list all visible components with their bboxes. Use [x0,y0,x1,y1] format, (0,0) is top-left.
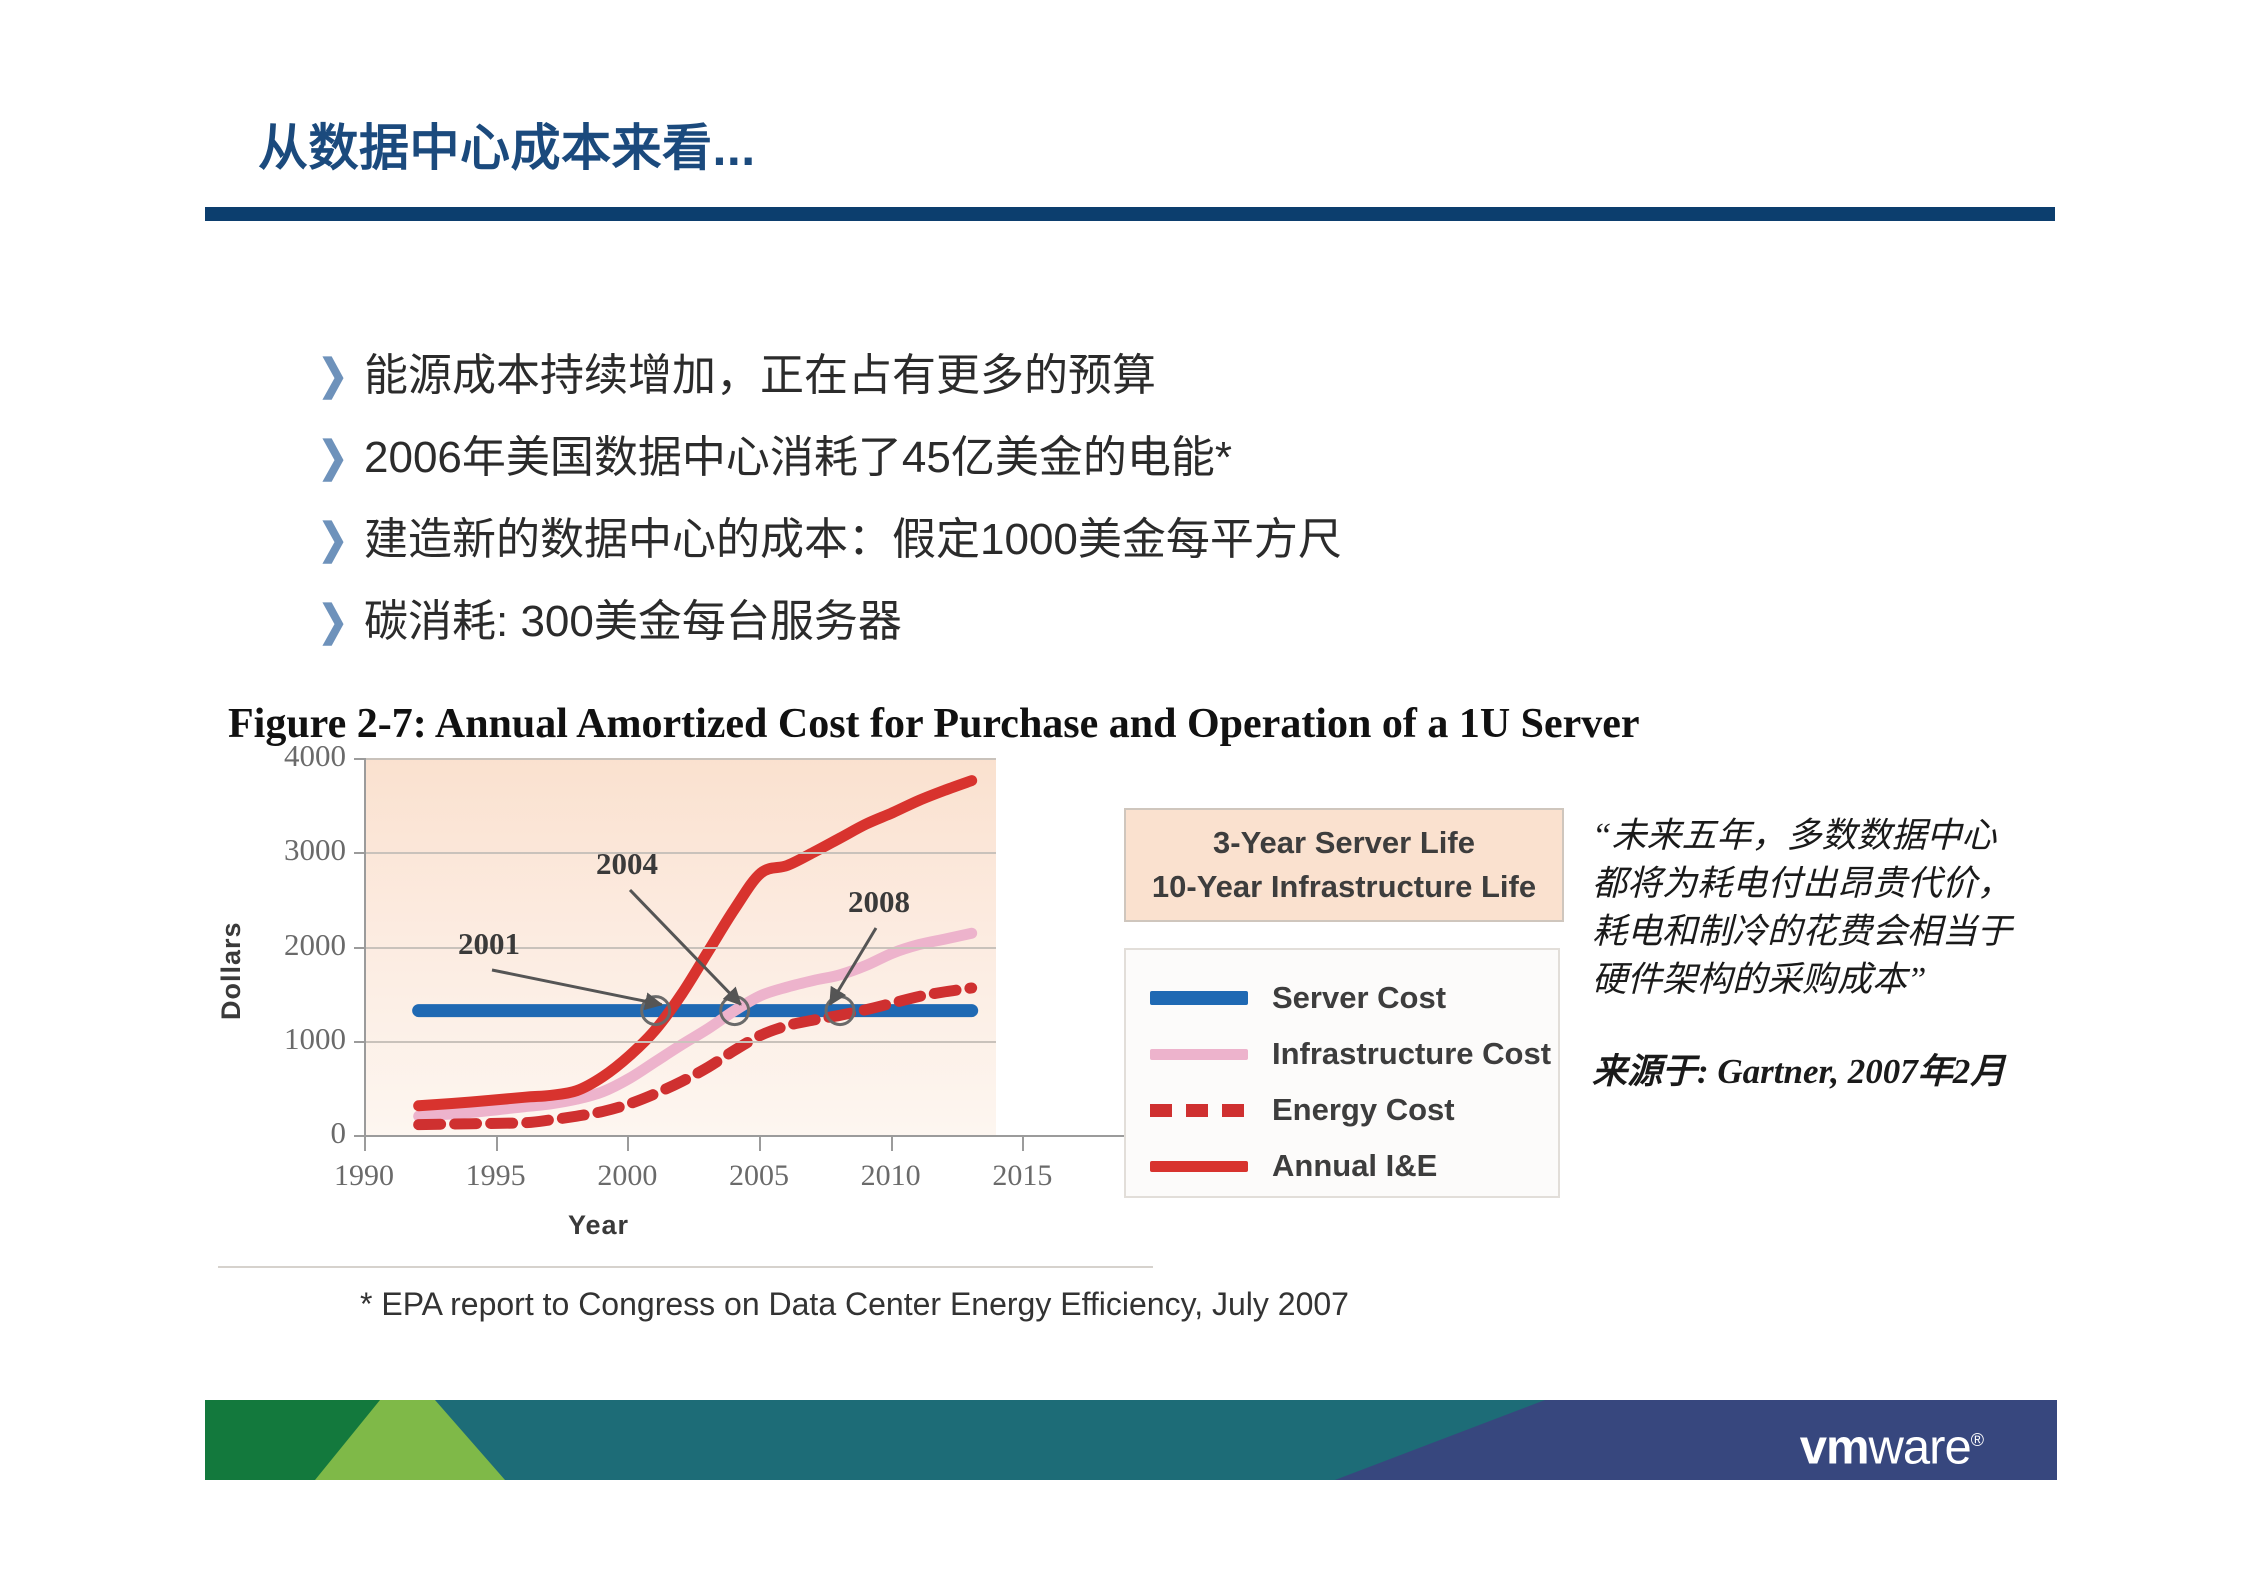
legend-label: Infrastructure Cost [1272,1036,1551,1072]
list-item-label: 2006年美国数据中心消耗了45亿美金的电能* [364,430,1232,486]
x-axis-label: Year [568,1210,629,1241]
slide-root: 从数据中心成本来看... ❯ 能源成本持续增加，正在占有更多的预算 ❯ 2006… [0,0,2252,1594]
y-axis-tick-mark [354,947,366,949]
legend-item: Server Cost [1126,970,1558,1026]
quote-block: “未来五年，多数数据中心都将为耗电付出昂贵代价，耗电和制冷的花费会相当于硬件架构… [1592,812,2012,1096]
figure-title: Figure 2-7: Annual Amortized Cost for Pu… [228,700,1640,748]
figure-divider [218,1266,1153,1268]
legend-header-line-1: 3-Year Server Life [1213,821,1475,865]
list-item: ❯ 能源成本持续增加，正在占有更多的预算 [318,348,1818,408]
list-item-label: 能源成本持续增加，正在占有更多的预算 [364,348,1156,404]
legend-swatch-icon [1150,1104,1248,1117]
x-axis-tick-label: 2000 [572,1159,682,1193]
x-axis-tick-mark [1022,1137,1024,1151]
y-axis-ticks: 01000200030004000 [228,758,346,1158]
gridline [366,758,996,760]
list-item: ❯ 2006年美国数据中心消耗了45亿美金的电能* [318,430,1818,490]
list-item: ❯ 建造新的数据中心的成本：假定1000美金每平方尺 [318,512,1818,572]
x-axis-tick-mark [364,1137,366,1151]
legend-header-box: 3-Year Server Life 10-Year Infrastructur… [1124,808,1564,922]
x-axis-tick-label: 2010 [836,1159,946,1193]
chevron-right-icon: ❯ [318,512,357,566]
chevron-right-icon: ❯ [318,430,357,484]
legend-item: Annual I&E [1126,1138,1558,1194]
slide-footer: vmware® [205,1400,2057,1480]
x-axis-tick-label: 1990 [309,1159,419,1193]
x-axis-tick-label: 1995 [441,1159,551,1193]
annotation-label-2001: 2001 [458,926,520,962]
x-axis-tick-label: 2005 [704,1159,814,1193]
x-axis-tick-mark [891,1137,893,1151]
chart-legend: Server CostInfrastructure CostEnergy Cos… [1124,948,1560,1198]
vmware-logo: vmware® [1800,1416,1983,1471]
y-axis-tick-label: 3000 [228,832,346,868]
legend-label: Annual I&E [1272,1148,1437,1184]
annotation-label-2008: 2008 [848,884,910,920]
footer-graphic [205,1400,2057,1480]
x-axis-tick-mark [496,1137,498,1151]
quote-source: 来源于: Gartner, 2007年2月 [1592,1048,2012,1096]
legend-swatch-icon [1150,1049,1248,1060]
x-axis-ticks: 1990199520002005201020152020 [364,1137,1154,1197]
title-divider [205,207,2055,221]
list-item: ❯ 碳消耗: 300美金每台服务器 [318,594,1818,654]
legend-swatch-icon [1150,1161,1248,1172]
vmware-logo-vm: vm [1800,1420,1869,1474]
quote-text: “未来五年，多数数据中心都将为耗电付出昂贵代价，耗电和制冷的花费会相当于硬件架构… [1592,812,2012,1004]
y-axis-tick-label: 4000 [228,738,346,774]
legend-label: Server Cost [1272,980,1446,1016]
gridline [366,1041,996,1043]
list-item-label: 碳消耗: 300美金每台服务器 [364,594,902,650]
legend-item: Infrastructure Cost [1126,1026,1558,1082]
vmware-logo-ware: ware [1869,1420,1971,1474]
chevron-right-icon: ❯ [318,348,357,402]
y-axis-tick-mark [354,758,366,760]
y-axis-tick-label: 2000 [228,927,346,963]
legend-swatch-icon [1150,991,1248,1005]
y-axis-tick-label: 0 [228,1115,346,1151]
legend-label: Energy Cost [1272,1092,1455,1128]
registered-trademark-icon: ® [1971,1430,1983,1450]
chevron-right-icon: ❯ [318,594,357,648]
page-title: 从数据中心成本来看... [258,108,756,180]
bullet-list: ❯ 能源成本持续增加，正在占有更多的预算 ❯ 2006年美国数据中心消耗了45亿… [318,348,1818,676]
y-axis-tick-mark [354,1041,366,1043]
footnote: * EPA report to Congress on Data Center … [360,1286,1349,1323]
x-axis-tick-mark [759,1137,761,1151]
y-axis-tick-mark [354,852,366,854]
x-axis-tick-label: 2015 [967,1159,1077,1193]
gridline [366,852,996,854]
annotation-label-2004: 2004 [596,846,658,882]
x-axis-tick-mark [627,1137,629,1151]
y-axis-tick-label: 1000 [228,1021,346,1057]
legend-item: Energy Cost [1126,1082,1558,1138]
legend-header-line-2: 10-Year Infrastructure Life [1152,865,1536,909]
list-item-label: 建造新的数据中心的成本：假定1000美金每平方尺 [364,512,1342,568]
